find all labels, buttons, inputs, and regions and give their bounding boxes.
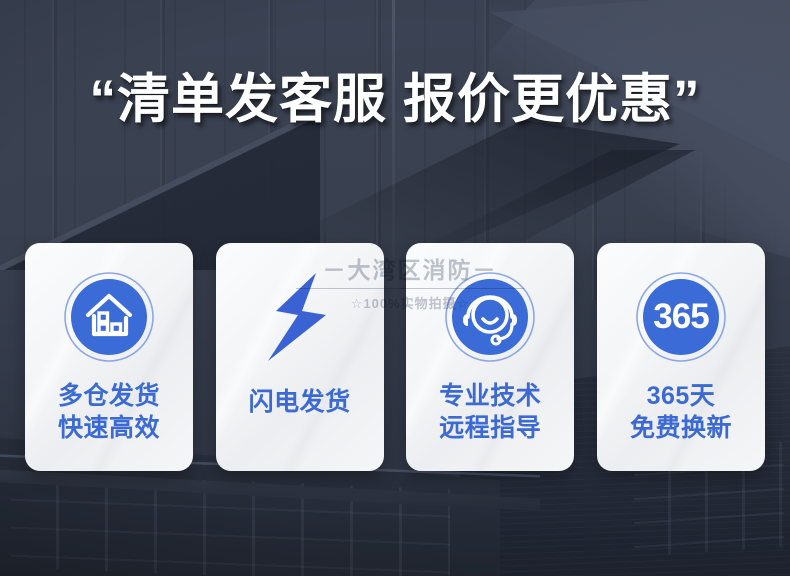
headset-support-icon: [442, 269, 538, 365]
feature-card-line1: 专业技术: [439, 382, 541, 410]
feature-card-text: 闪电发货: [249, 387, 351, 419]
feature-card-line2: 远程指导: [439, 413, 541, 445]
feature-card-line2: 免费换新: [630, 413, 732, 445]
feature-card-365-warranty[interactable]: 365 365天 免费换新: [597, 243, 765, 471]
feature-card-multi-warehouse[interactable]: 多仓发货 快速高效: [25, 243, 193, 471]
badge-365-number: 365: [633, 269, 729, 365]
feature-card-line1: 365天: [647, 382, 716, 410]
feature-card-line2: 快速高效: [58, 413, 160, 445]
feature-card-line1: 闪电发货: [249, 388, 351, 416]
lightning-bolt-icon: [252, 269, 348, 365]
feature-card-text: 专业技术 远程指导: [439, 381, 541, 444]
headline-text-secondary: 报价更优惠: [403, 70, 673, 129]
badge-365-icon: 365: [633, 269, 729, 365]
feature-card-list: 多仓发货 快速高效 闪电发货: [25, 243, 765, 471]
feature-card-line1: 多仓发货: [58, 382, 160, 410]
promo-banner: “清单发客服报价更优惠” 多仓发: [0, 0, 790, 576]
feature-card-text: 365天 免费换新: [630, 381, 732, 444]
headline: “清单发客服报价更优惠”: [0, 72, 790, 128]
headline-close-quote: ”: [673, 70, 701, 129]
headline-open-quote: “: [90, 70, 118, 129]
feature-card-lightning-shipping[interactable]: 闪电发货: [216, 243, 384, 471]
headline-text-primary: 清单发客服: [117, 70, 387, 129]
warehouse-house-icon: [61, 269, 157, 365]
feature-card-technical-support[interactable]: 专业技术 远程指导: [406, 243, 574, 471]
feature-card-text: 多仓发货 快速高效: [58, 381, 160, 444]
